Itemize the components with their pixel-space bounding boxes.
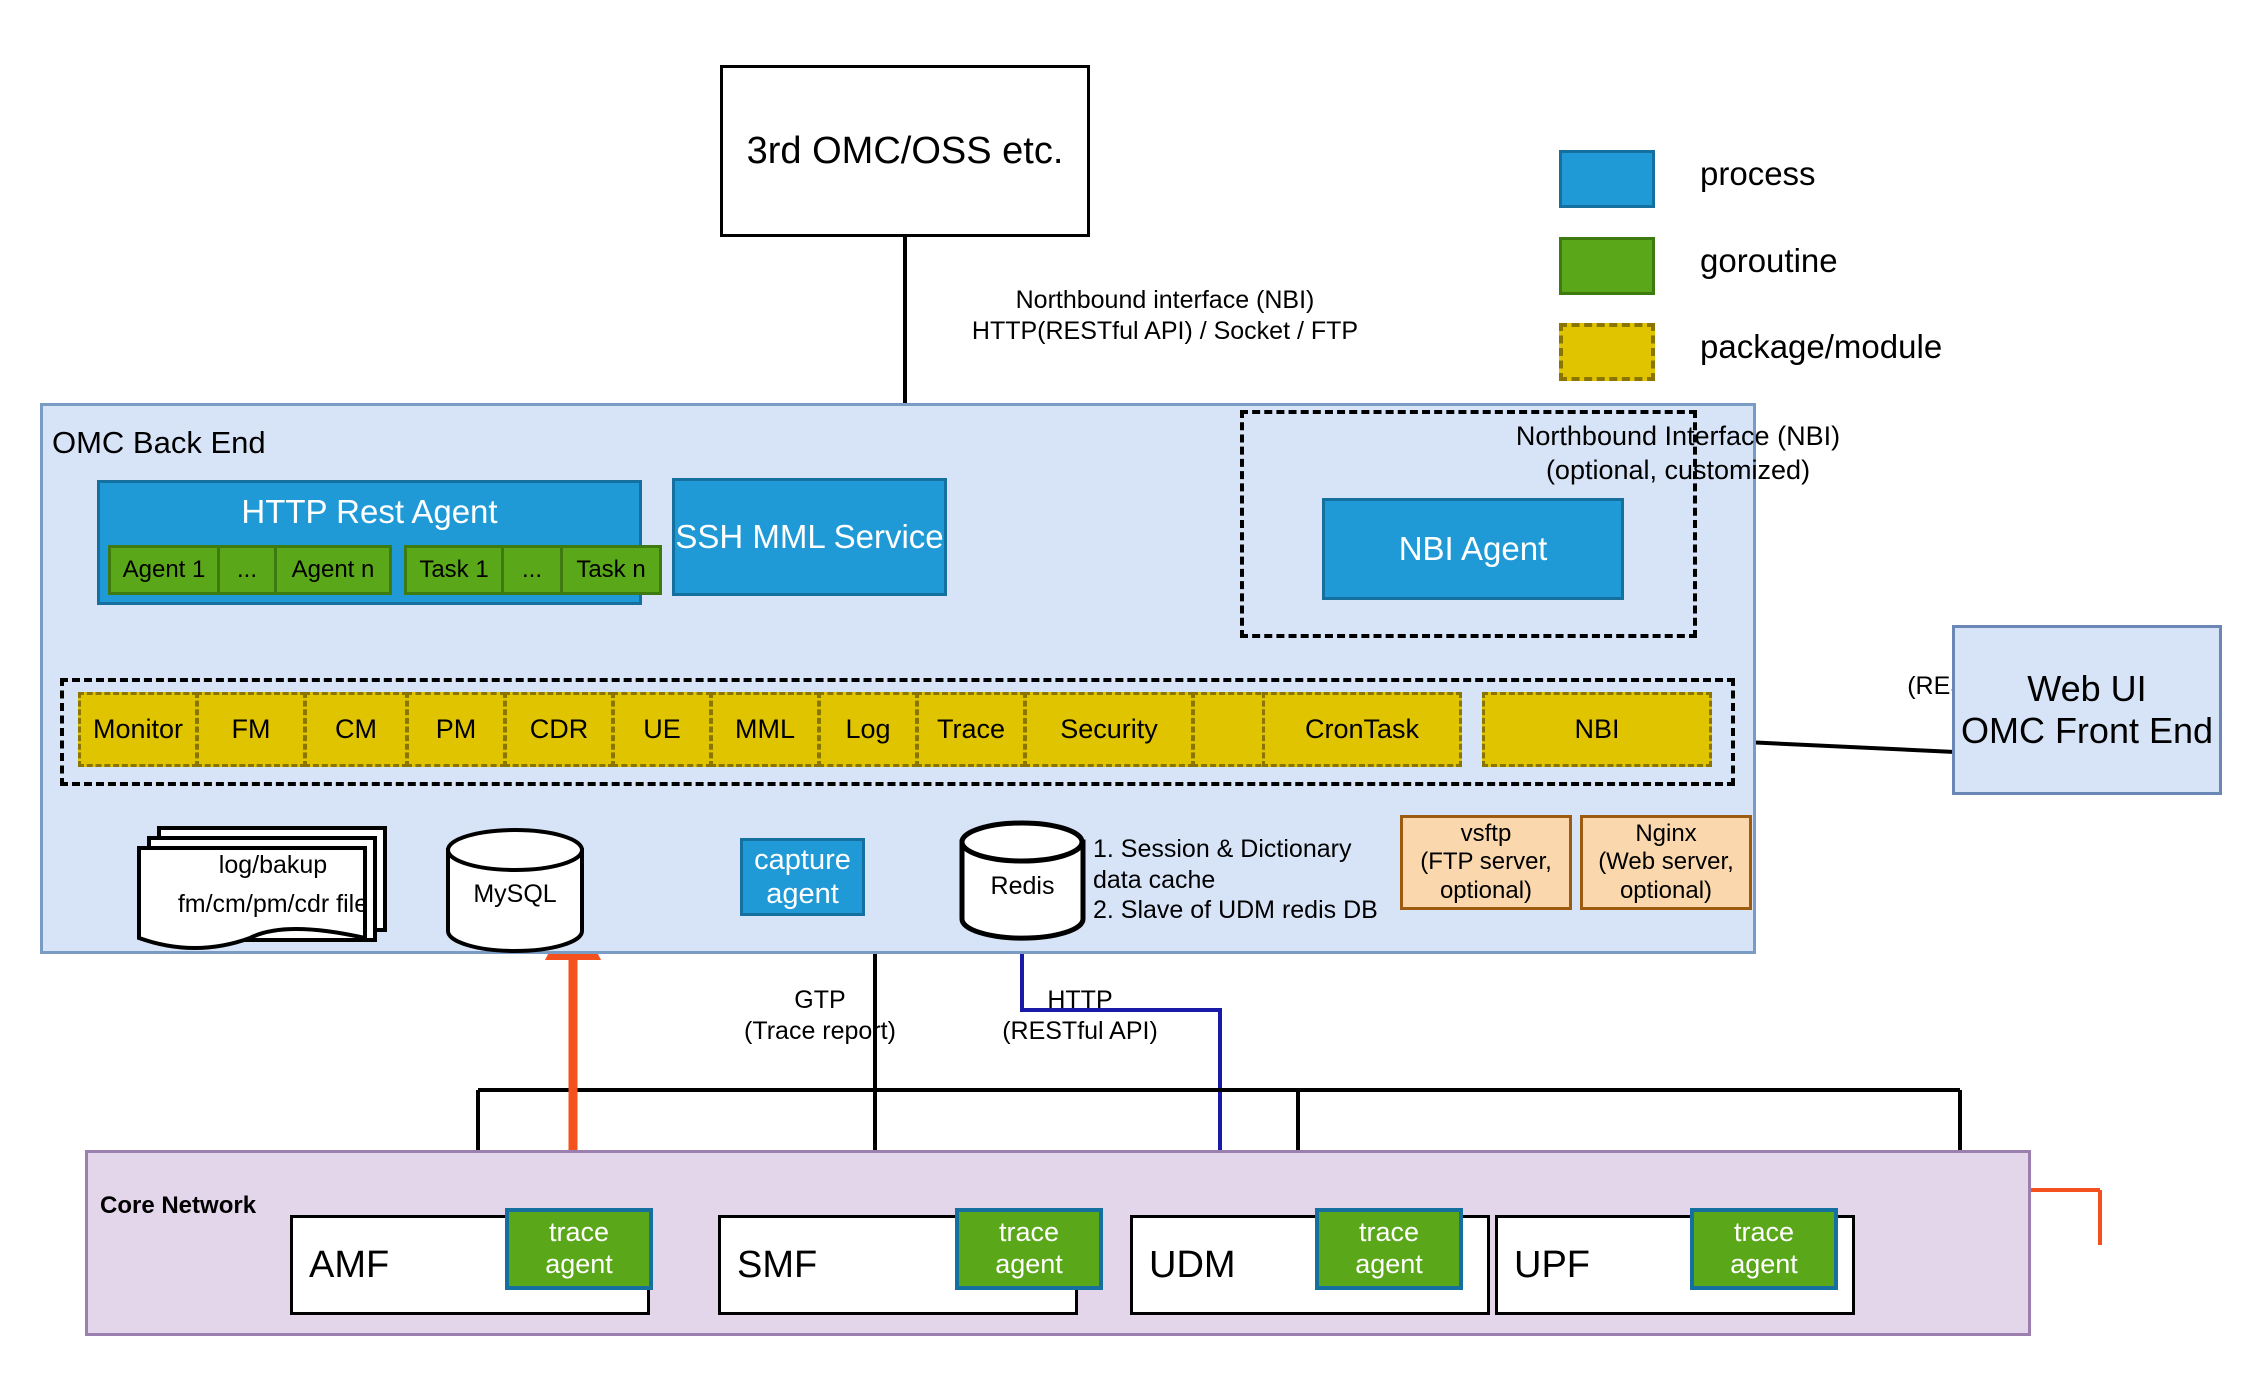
module-ue[interactable]: UE xyxy=(612,692,712,767)
nbi-region-title: Northbound Interface (NBI) (optional, cu… xyxy=(1468,420,1888,488)
legend-label-process: process xyxy=(1700,155,1816,193)
module-nbi[interactable]: NBI xyxy=(1482,692,1712,767)
agent-ellipsis-label: ... xyxy=(237,556,257,584)
gtp-link-label: GTP (Trace report) xyxy=(690,985,950,1048)
task-n-label: Task n xyxy=(576,556,645,584)
vsftp-label: vsftp (FTP server, optional) xyxy=(1420,820,1552,905)
module-nbi-label: NBI xyxy=(1574,714,1619,746)
agent-1-label: Agent 1 xyxy=(123,556,206,584)
trace-agent-upf-label: trace agent xyxy=(1730,1217,1798,1281)
nbi-link-label: Northbound interface (NBI) HTTP(RESTful … xyxy=(905,285,1425,348)
module-trace-label: Trace xyxy=(937,714,1005,746)
nf-label-amf: AMF xyxy=(309,1243,389,1288)
module-trace[interactable]: Trace xyxy=(916,692,1026,767)
module-monitor-label: Monitor xyxy=(93,714,183,746)
agent-n-label: Agent n xyxy=(292,556,375,584)
task-1-box[interactable]: Task 1 xyxy=(404,545,504,595)
module-cm-label: CM xyxy=(335,714,377,746)
trace-agent-udm-label: trace agent xyxy=(1355,1217,1423,1281)
task-ellipsis-label: ... xyxy=(522,556,542,584)
nf-label-upf: UPF xyxy=(1514,1243,1590,1288)
trace-agent-smf[interactable]: trace agent xyxy=(955,1208,1103,1290)
ssh-mml-service-label: SSH MML Service xyxy=(675,518,943,557)
nginx-label: Nginx (Web server, optional) xyxy=(1598,820,1734,905)
http-rest-agent-title: HTTP Rest Agent xyxy=(241,493,497,532)
legend-label-goroutine: goroutine xyxy=(1700,242,1838,280)
legend-swatch-package-module xyxy=(1559,323,1655,381)
module-fm[interactable]: FM xyxy=(196,692,306,767)
legend-label-package-module: package/module xyxy=(1700,328,1942,366)
capture-agent-box[interactable]: capture agent xyxy=(740,838,865,916)
external-omc-oss-box[interactable]: 3rd OMC/OSS etc. xyxy=(720,65,1090,237)
module-pm-label: PM xyxy=(436,714,477,746)
legend-swatch-goroutine xyxy=(1559,237,1655,295)
module-monitor[interactable]: Monitor xyxy=(78,692,198,767)
diagram-canvas: 3rd OMC/OSS etc. Northbound interface (N… xyxy=(0,0,2250,1395)
legend-swatch-process xyxy=(1559,150,1655,208)
web-ui-frontend-label: Web UI OMC Front End xyxy=(1961,668,2213,753)
http-restful-link-label: HTTP (RESTful API) xyxy=(950,985,1210,1048)
module-mml-label: MML xyxy=(735,714,795,746)
agent-ellipsis-box: ... xyxy=(217,545,277,595)
module-pm[interactable]: PM xyxy=(406,692,506,767)
nginx-box[interactable]: Nginx (Web server, optional) xyxy=(1580,815,1752,910)
trace-agent-smf-label: trace agent xyxy=(995,1217,1063,1281)
vsftp-box[interactable]: vsftp (FTP server, optional) xyxy=(1400,815,1572,910)
module-cm[interactable]: CM xyxy=(304,692,408,767)
redis-label: Redis xyxy=(955,872,1090,901)
task-ellipsis-box: ... xyxy=(501,545,563,595)
capture-agent-label: capture agent xyxy=(754,843,851,911)
trace-agent-amf-label: trace agent xyxy=(545,1217,613,1281)
trace-agent-upf[interactable]: trace agent xyxy=(1690,1208,1838,1290)
module-fm-label: FM xyxy=(232,714,271,746)
task-1-label: Task 1 xyxy=(419,556,488,584)
module-ue-label: UE xyxy=(643,714,681,746)
nbi-agent-box[interactable]: NBI Agent xyxy=(1322,498,1624,600)
module-cdr-label: CDR xyxy=(530,714,589,746)
module-security[interactable]: Security xyxy=(1024,692,1194,767)
nf-label-udm: UDM xyxy=(1149,1243,1236,1288)
agent-n-box[interactable]: Agent n xyxy=(274,545,392,595)
module-crontask-label: CronTask xyxy=(1305,714,1419,746)
file-store-label: log/bakup fm/cm/pm/cdr file xyxy=(148,846,398,924)
nbi-agent-label: NBI Agent xyxy=(1399,530,1548,569)
mysql-label: MySQL xyxy=(440,880,590,909)
agent-1-box[interactable]: Agent 1 xyxy=(108,545,220,595)
nf-label-smf: SMF xyxy=(737,1243,817,1288)
omc-back-end-title: OMC Back End xyxy=(52,425,266,461)
trace-agent-udm[interactable]: trace agent xyxy=(1315,1208,1463,1290)
external-omc-oss-label: 3rd OMC/OSS etc. xyxy=(747,129,1064,174)
task-n-box[interactable]: Task n xyxy=(560,545,662,595)
module-log-label: Log xyxy=(845,714,890,746)
ssh-mml-service-box[interactable]: SSH MML Service xyxy=(672,478,947,596)
trace-agent-amf[interactable]: trace agent xyxy=(505,1208,653,1290)
module-log[interactable]: Log xyxy=(818,692,918,767)
module-crontask[interactable]: CronTask xyxy=(1262,692,1462,767)
module-security-label: Security xyxy=(1060,714,1158,746)
core-network-title: Core Network xyxy=(100,1192,256,1220)
web-ui-frontend-box[interactable]: Web UI OMC Front End xyxy=(1952,625,2222,795)
module-cdr[interactable]: CDR xyxy=(504,692,614,767)
module-mml[interactable]: MML xyxy=(710,692,820,767)
redis-note: 1. Session & Dictionary data cache 2. Sl… xyxy=(1093,834,1423,926)
